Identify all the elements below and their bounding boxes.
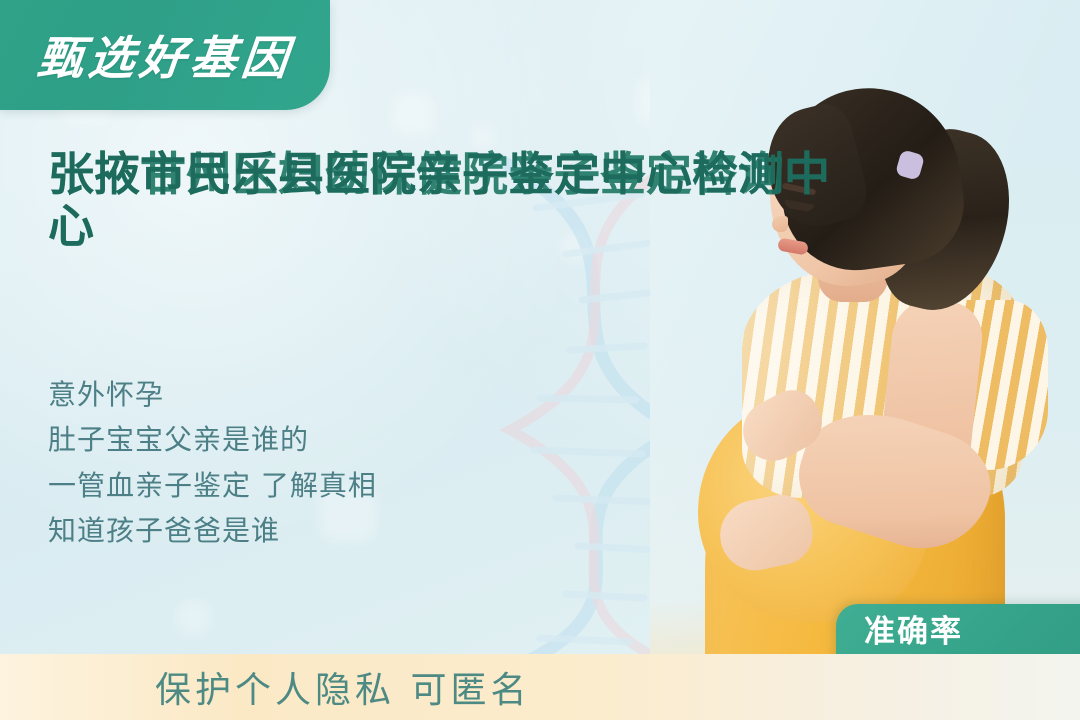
poster-canvas: 甄选好基因 张掖甘州区妇幼保健院亲子鉴定咨询中心 张掖市民乐县医院亲子鉴定中心检… [0, 0, 1080, 720]
privacy-banner-text: 保护个人隐私 可匿名 [155, 661, 530, 713]
copy-line: 肚子宝宝父亲是谁的 [48, 417, 518, 462]
hero-title-primary: 张掖市民乐县医院亲子鉴定中心检测中心 [48, 148, 868, 253]
brand-wordmark: 甄选好基因 [34, 22, 296, 88]
hero-title-group: 张掖甘州区妇幼保健院亲子鉴定咨询中心 张掖市民乐县医院亲子鉴定中心检测中心 [48, 148, 868, 278]
brand-logo-badge: 甄选好基因 [0, 0, 330, 110]
accuracy-label: 准确率 [864, 614, 1080, 651]
privacy-banner: 保护个人隐私 可匿名 [0, 654, 1080, 720]
copy-line: 知道孩子爸爸是谁 [48, 508, 518, 553]
copy-line: 一管血亲子鉴定 了解真相 [48, 463, 518, 508]
copy-line: 意外怀孕 [48, 372, 518, 417]
bokeh-shape [176, 600, 210, 634]
hero-copy: 意外怀孕 肚子宝宝父亲是谁的 一管血亲子鉴定 了解真相 知道孩子爸爸是谁 [48, 372, 518, 553]
bokeh-shape [392, 92, 436, 136]
